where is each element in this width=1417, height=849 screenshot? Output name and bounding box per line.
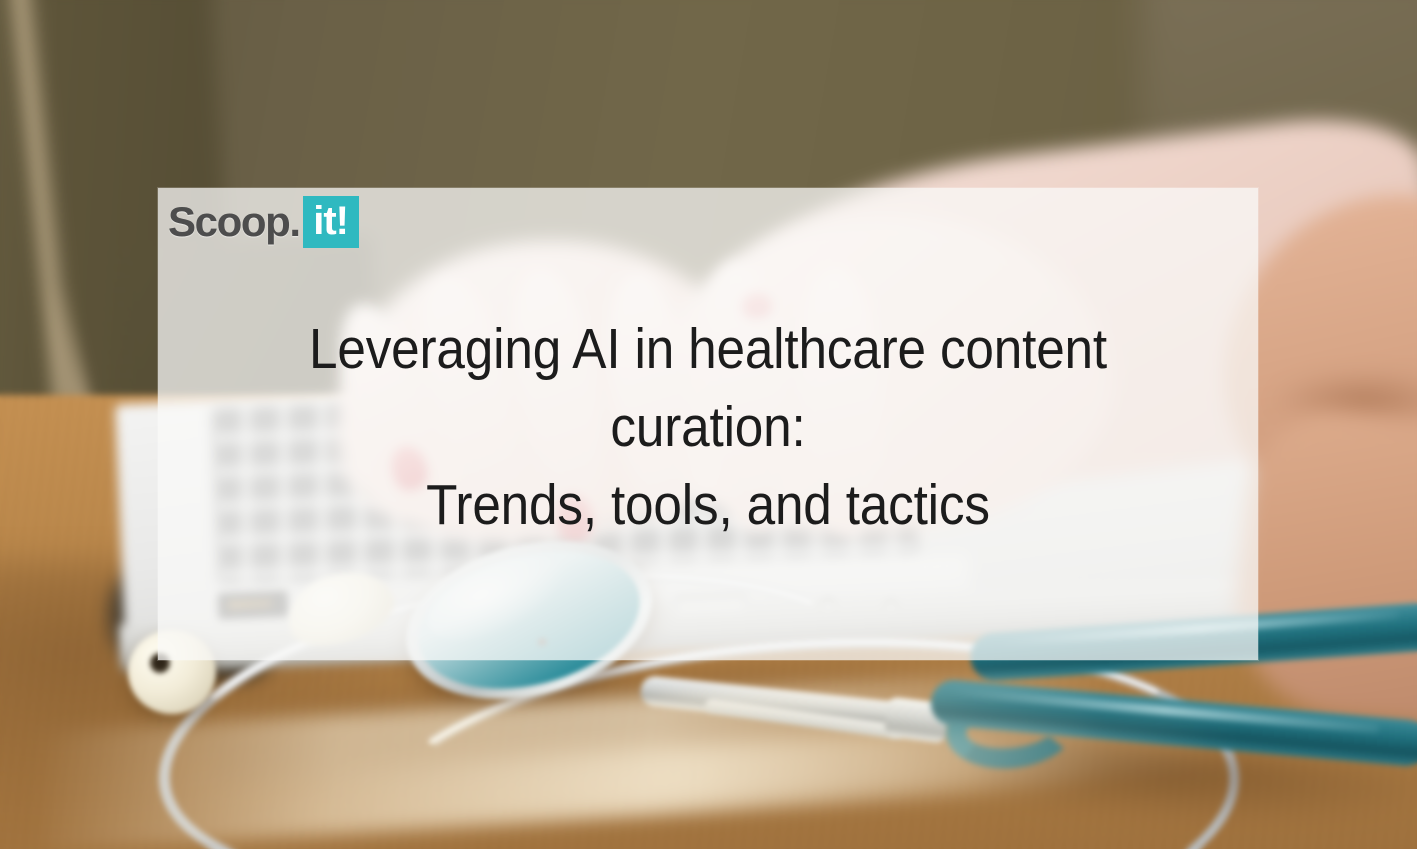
overlay-card: Scoop. it! Leveraging AI in healthcare c… (158, 188, 1258, 660)
logo-wordmark: Scoop. (168, 201, 300, 243)
scoop-it-logo[interactable]: Scoop. it! (168, 196, 359, 248)
logo-badge: it! (303, 196, 359, 248)
page-title: Leveraging AI in healthcare content cura… (213, 310, 1203, 544)
logo-badge-text: it! (313, 201, 348, 241)
screenshot-canvas: Scoop. it! Leveraging AI in healthcare c… (0, 0, 1417, 849)
